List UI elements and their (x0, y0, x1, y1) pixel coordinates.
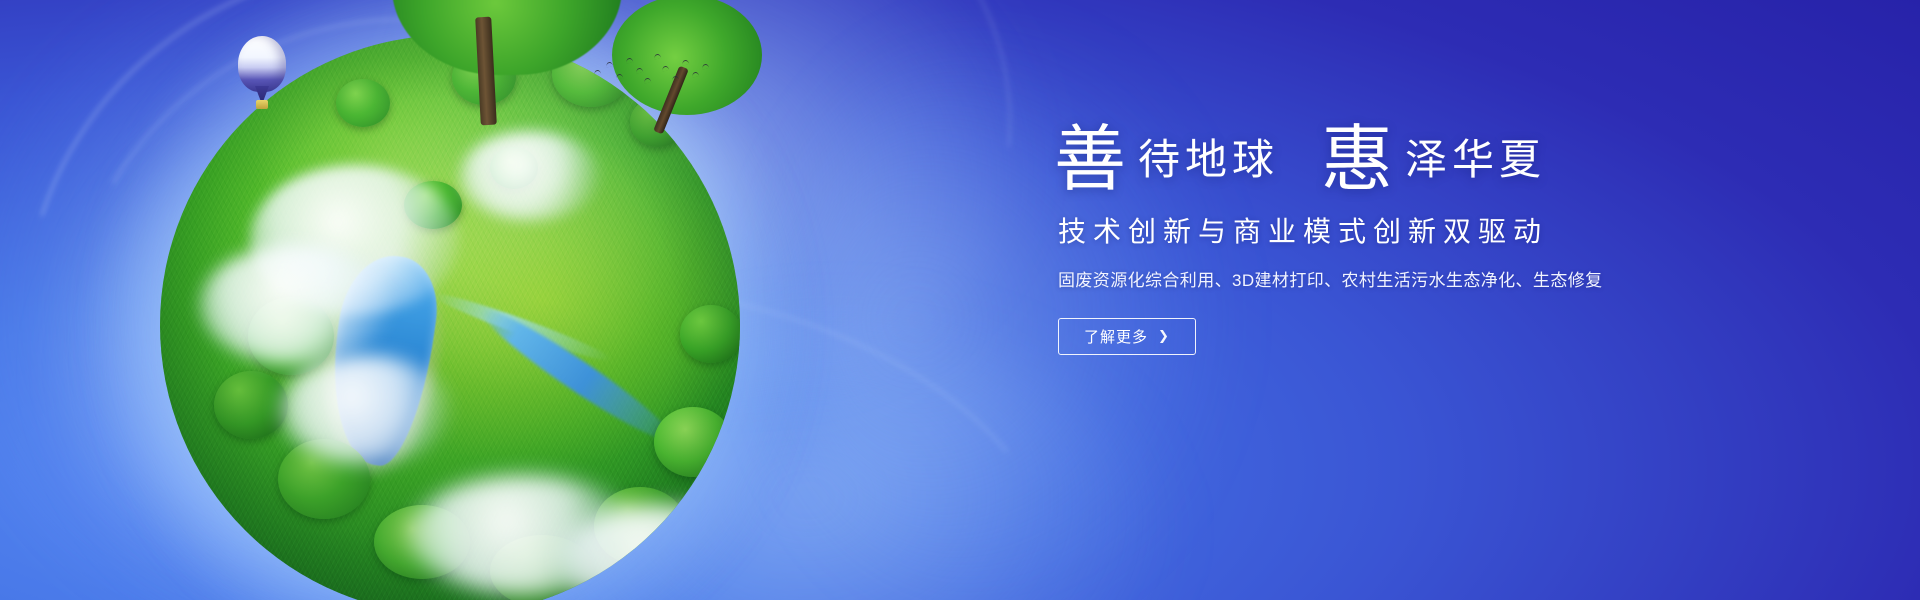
bird-icon (702, 64, 710, 70)
headline-accent-2: 惠 (1321, 126, 1393, 194)
description-text: 固废资源化综合利用、3D建材打印、农村生活污水生态净化、生态修复 (1058, 266, 1754, 291)
tiny-planet-artwork (160, 35, 740, 600)
chevron-right-icon: ❯ (1158, 329, 1170, 342)
headline: 善 待地球 惠 泽华夏 (1054, 120, 1754, 188)
bird-icon (616, 74, 624, 80)
learn-more-label: 了解更多 (1084, 326, 1148, 347)
cloud (280, 355, 450, 465)
hot-air-balloon-icon (238, 36, 286, 114)
bird-icon (654, 54, 662, 60)
headline-rest-2: 泽华夏 (1405, 140, 1546, 182)
hero-banner: 善 待地球 惠 泽华夏 技术创新与商业模式创新双驱动 固废资源化综合利用、3D建… (0, 0, 1920, 600)
bird-icon (672, 76, 680, 82)
balloon-envelope (238, 36, 286, 92)
bird-icon (682, 60, 690, 66)
bird-icon (644, 78, 652, 84)
headline-group-1: 善 待地球 (1054, 120, 1279, 188)
bird-flock (592, 48, 712, 92)
headline-accent-1: 善 (1054, 126, 1126, 194)
green-globe (160, 35, 740, 600)
hero-copy: 善 待地球 惠 泽华夏 技术创新与商业模式创新双驱动 固废资源化综合利用、3D建… (1054, 120, 1754, 355)
headline-rest-1: 待地球 (1138, 140, 1279, 182)
headline-group-2: 惠 泽华夏 (1321, 120, 1546, 188)
bird-icon (626, 58, 634, 64)
learn-more-button[interactable]: 了解更多 ❯ (1058, 318, 1196, 355)
sub-headline: 技术创新与商业模式创新双驱动 (1058, 210, 1754, 250)
bird-icon (692, 72, 700, 78)
cloud (460, 131, 600, 221)
bird-icon (662, 66, 670, 72)
balloon-taper (255, 86, 269, 100)
bird-icon (606, 62, 614, 68)
bird-icon (594, 70, 602, 76)
balloon-basket (256, 100, 268, 109)
bird-icon (636, 68, 644, 74)
cloud (200, 245, 390, 365)
